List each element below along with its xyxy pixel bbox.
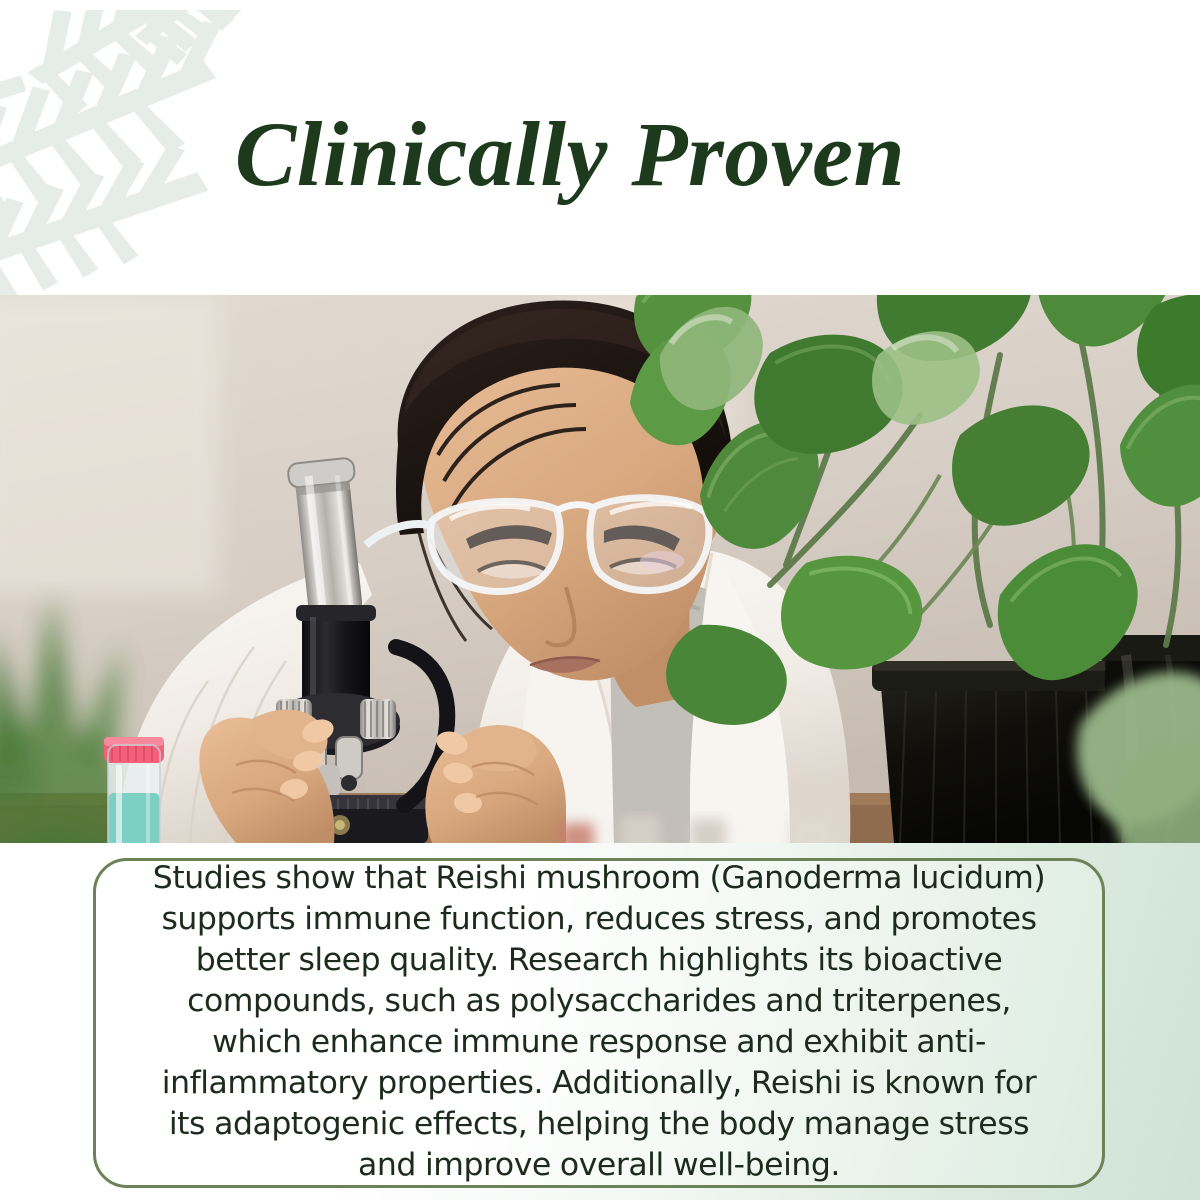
description-card: Studies show that Reishi mushroom (Ganod… xyxy=(93,858,1105,1188)
description-text: Studies show that Reishi mushroom (Ganod… xyxy=(144,858,1054,1187)
description-section: Studies show that Reishi mushroom (Ganod… xyxy=(0,843,1200,1200)
page-title: Clinically Proven xyxy=(0,108,1200,200)
centrifuge-tube xyxy=(104,737,164,843)
poster-root: Clinically Proven xyxy=(0,0,1200,1200)
header-section: Clinically Proven xyxy=(0,0,1200,295)
hero-photo xyxy=(0,295,1200,843)
scientist-microscope-photo-illustration xyxy=(0,295,1200,843)
